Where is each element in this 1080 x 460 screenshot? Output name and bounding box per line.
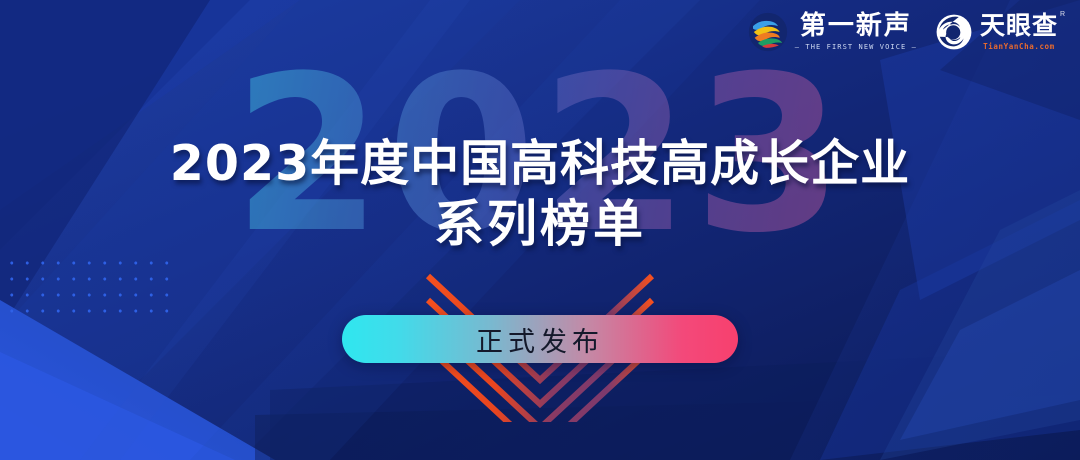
logo-tagline-tianyancha: TianYanCha.com xyxy=(983,42,1055,51)
logo-diyixinsheng[interactable]: 第一新声 — THE FIRST NEW VOICE — xyxy=(748,12,917,52)
headline-block: 2023年度中国高科技高成长企业 系列榜单 xyxy=(0,134,1080,254)
logo-bar: 第一新声 — THE FIRST NEW VOICE — 天眼查 R TianY… xyxy=(748,12,1058,52)
logo-name-tianyancha: 天眼查 xyxy=(980,13,1058,38)
release-badge[interactable]: 正式发布 xyxy=(342,315,738,363)
dot-grid-decoration xyxy=(0,252,170,322)
aperture-eye-logo-icon xyxy=(935,13,973,51)
logo-tianyancha[interactable]: 天眼查 R TianYanCha.com xyxy=(935,13,1058,51)
promo-banner: 2023 2023年度中国高科技高成长企业 系列榜单 xyxy=(0,0,1080,460)
logo-tagline-diyixinsheng: — THE FIRST NEW VOICE — xyxy=(795,43,917,51)
headline-line-1: 2023年度中国高科技高成长企业 xyxy=(0,134,1080,194)
registered-mark-icon: R xyxy=(1060,11,1065,18)
swoosh-logo-icon xyxy=(748,12,788,52)
headline-line-2: 系列榜单 xyxy=(0,194,1080,254)
release-badge-label: 正式发布 xyxy=(476,320,604,359)
logo-name-diyixinsheng: 第一新声 xyxy=(800,13,912,39)
